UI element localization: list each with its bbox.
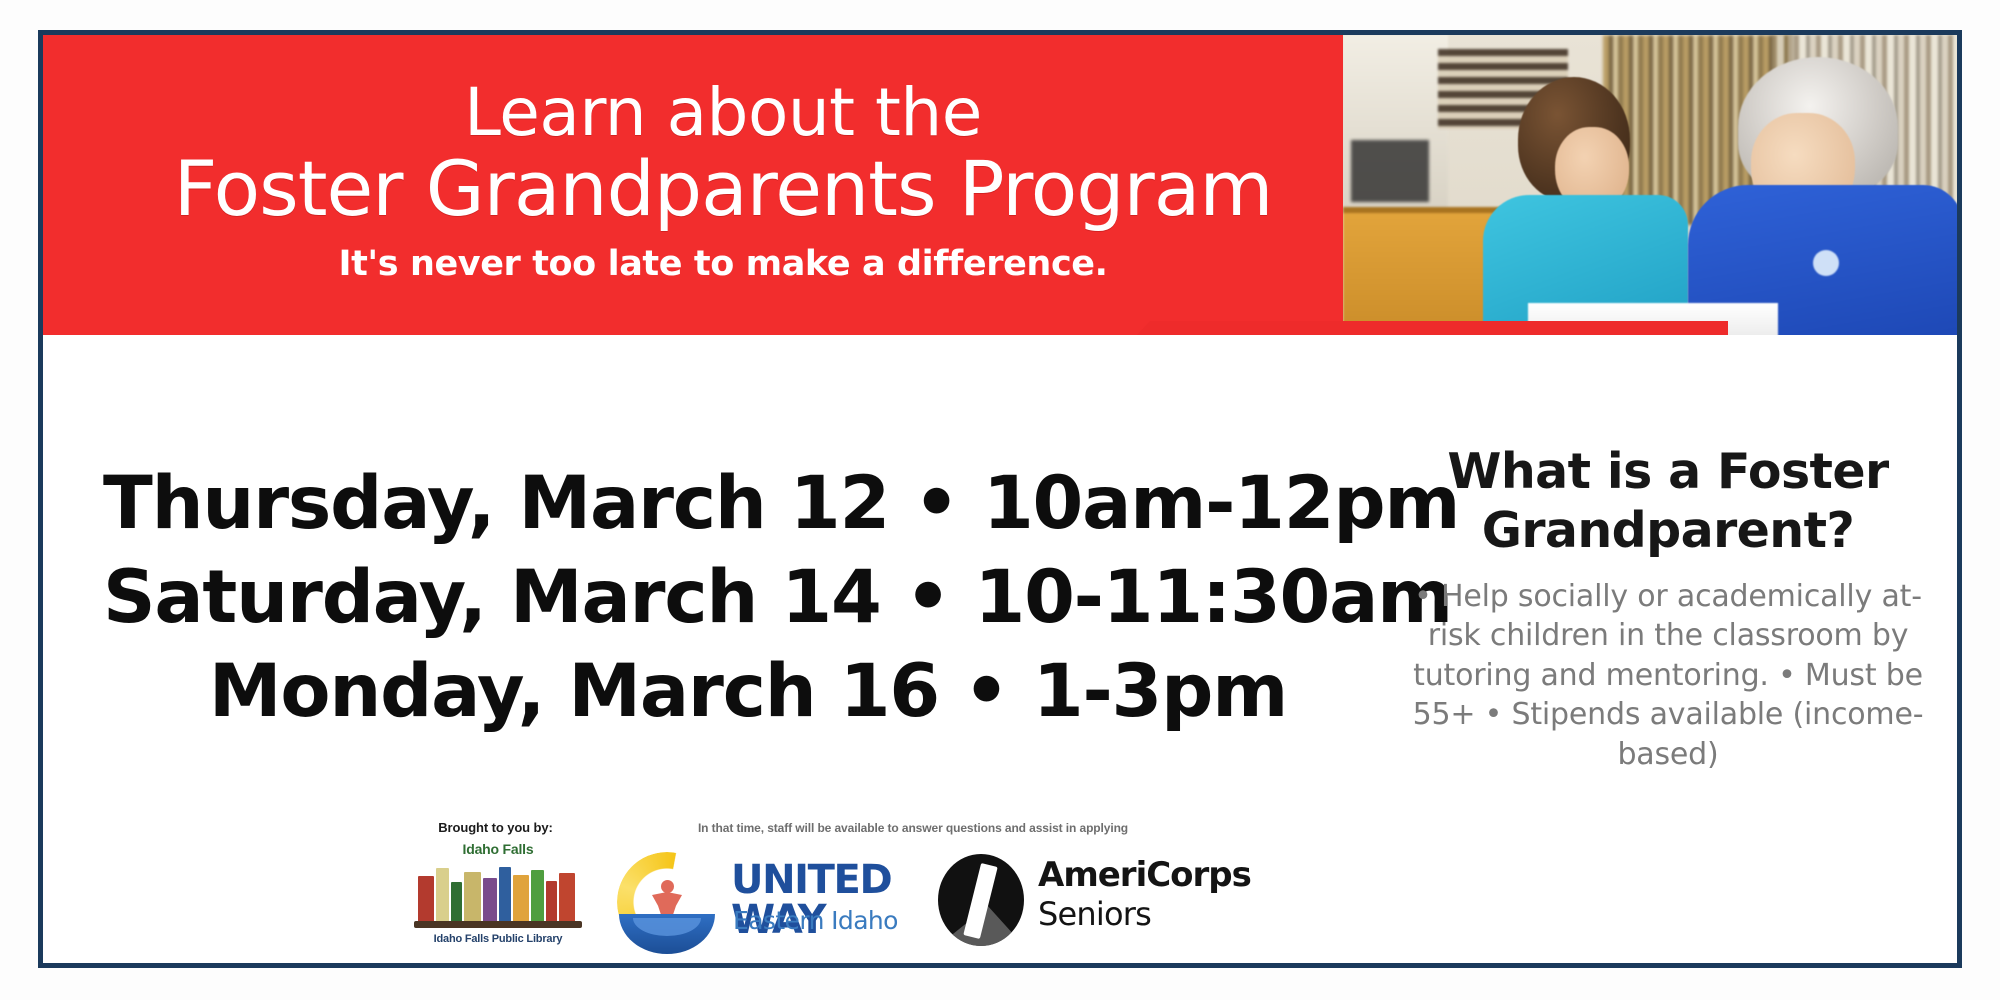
info-column: What is a Foster Grandparent? • Help soc…: [1408, 443, 1928, 775]
photo-image: [1343, 35, 1957, 335]
poster-frame: Learn about the Foster Grandparents Prog…: [38, 30, 1962, 968]
americorps-mark-icon: [938, 854, 1024, 946]
library-logo-name: Idaho Falls Public Library: [408, 933, 588, 945]
header-text-block: Learn about the Foster Grandparents Prog…: [43, 35, 1403, 335]
photo-volunteer-logo-badge: [1813, 250, 1839, 276]
headline-line-1: Learn about the: [464, 80, 982, 146]
sponsor-footer: Brought to you by: In that time, staff w…: [398, 820, 1228, 968]
session-dates-list: Thursday, March 12 • 10am-12pm Saturday,…: [103, 457, 1393, 739]
united-way-region: Eastern Idaho: [733, 908, 898, 933]
united-way-hand-icon: [619, 914, 715, 954]
availability-note: In that time, staff will be available to…: [598, 821, 1228, 835]
info-heading-line-2: Grandparent?: [1408, 502, 1928, 561]
library-logo-books-icon: [408, 859, 588, 931]
flyer-poster: Learn about the Foster Grandparents Prog…: [0, 0, 2000, 1000]
session-date-2: Saturday, March 14 • 10-11:30am: [103, 551, 1393, 645]
tagline: It's never too late to make a difference…: [338, 244, 1107, 284]
header-banner: Learn about the Foster Grandparents Prog…: [43, 35, 1957, 335]
photo-dark-shelf-box: [1351, 140, 1429, 202]
info-description: • Help socially or academically at-risk …: [1408, 577, 1928, 775]
session-date-1: Thursday, March 12 • 10am-12pm: [103, 457, 1393, 551]
info-heading-line-1: What is a Foster: [1408, 443, 1928, 502]
library-logo-shelf: [414, 921, 582, 928]
united-way-logo: UNITED WAY Eastern Idaho: [613, 848, 903, 960]
united-way-mark-icon: [613, 852, 721, 956]
americorps-seniors-label: Seniors: [1038, 898, 1151, 930]
idaho-falls-library-logo: Idaho Falls Idaho Falls P: [408, 842, 588, 960]
headline-line-2: Foster Grandparents Program: [174, 148, 1273, 230]
library-logo-top-text: Idaho Falls: [408, 842, 588, 857]
americorps-wordmark: AmeriCorps: [1038, 858, 1251, 892]
poster-body: Thursday, March 12 • 10am-12pm Saturday,…: [43, 335, 1957, 963]
brought-to-you-by-label: Brought to you by:: [408, 820, 583, 835]
library-photo: [1337, 35, 1957, 335]
session-date-3: Monday, March 16 • 1-3pm: [103, 645, 1393, 739]
location-caption-banner: 2nd Floor Program Room Idaho Falls Publi…: [1108, 321, 1728, 335]
americorps-seniors-logo: AmeriCorps Seniors: [938, 850, 1228, 958]
